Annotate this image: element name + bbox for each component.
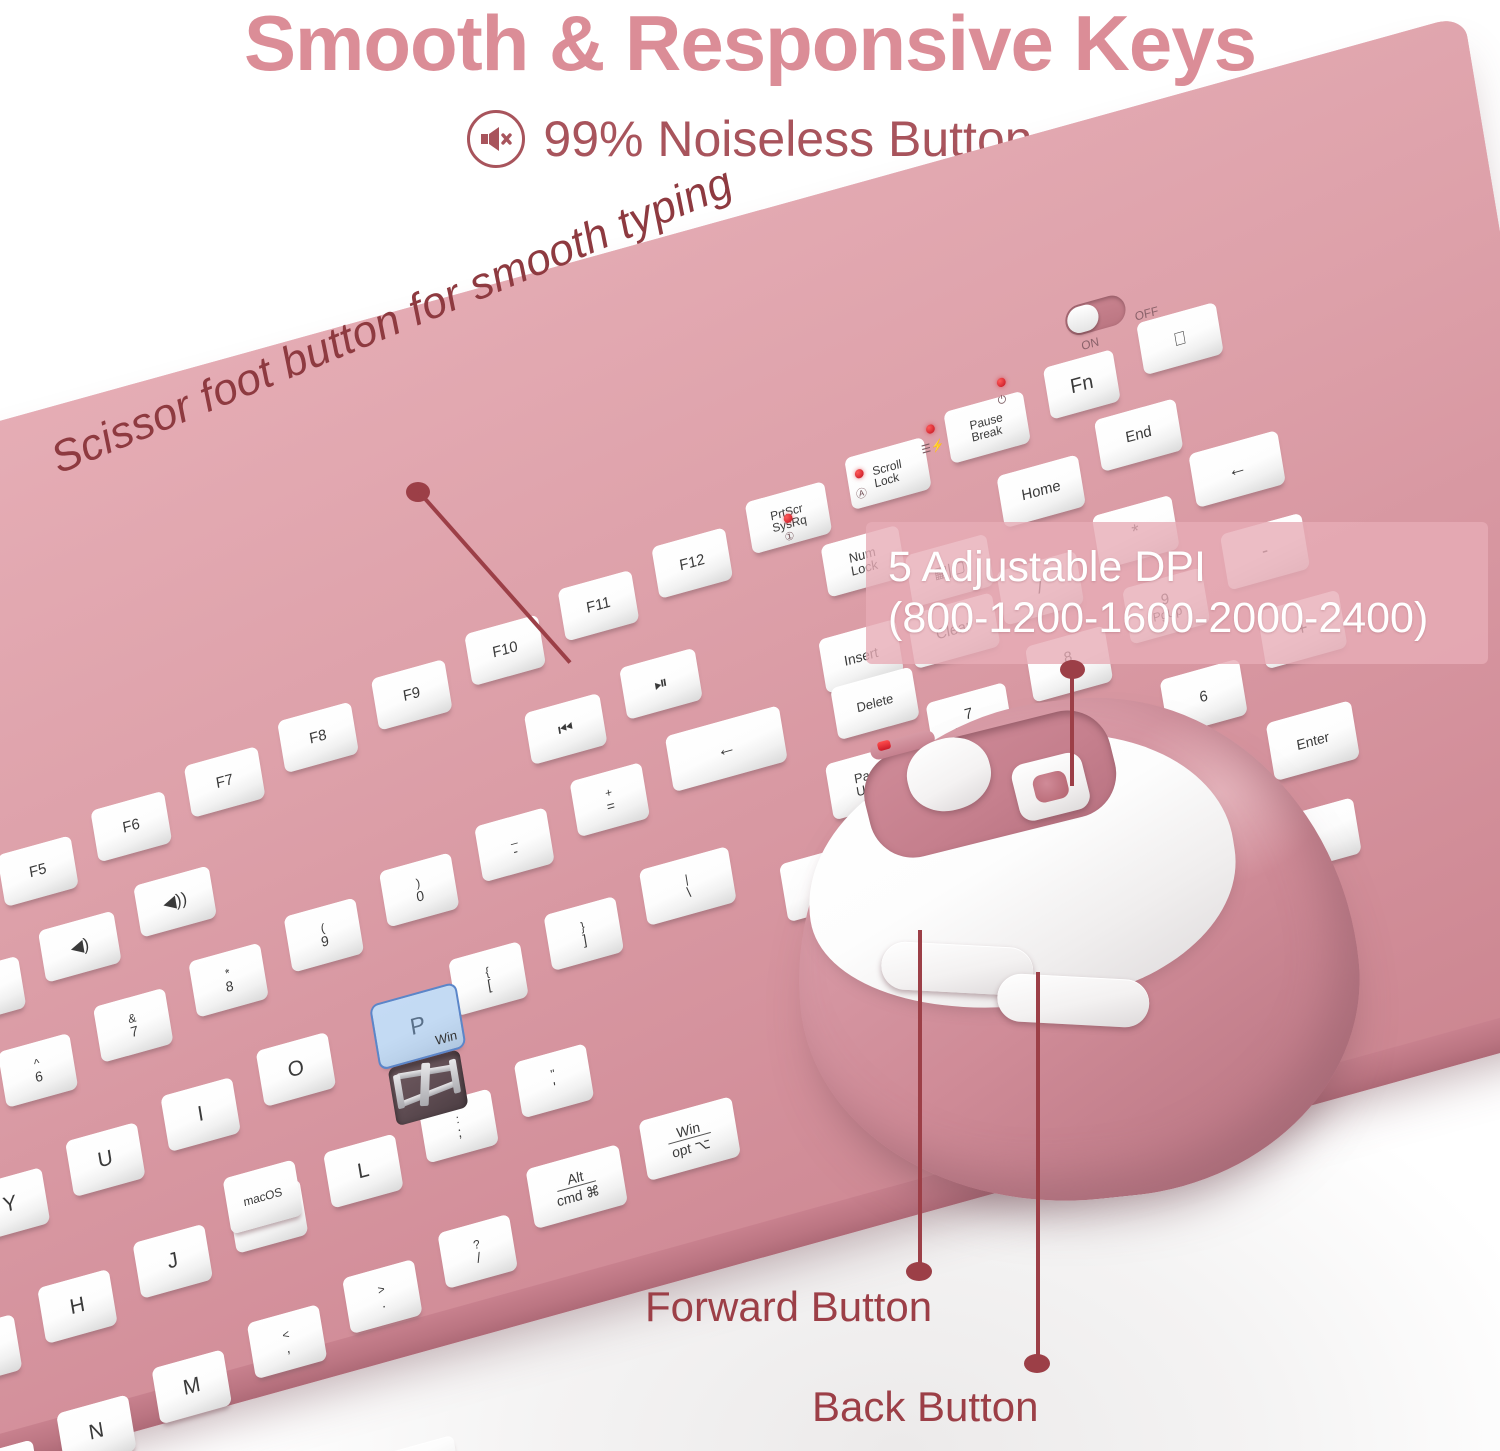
key-spacebar[interactable] bbox=[135, 1435, 463, 1451]
power-switch-on-label: ON bbox=[1080, 334, 1100, 353]
dpi-callout-line1: 5 Adjustable DPI bbox=[888, 542, 1488, 593]
key-f12[interactable]: F12 bbox=[651, 527, 733, 599]
key-fn[interactable]: Fn bbox=[1043, 349, 1121, 420]
key-f6[interactable]: F6 bbox=[90, 791, 172, 863]
key-quote[interactable]: "' bbox=[514, 1043, 595, 1118]
key-l[interactable]: L bbox=[323, 1133, 404, 1208]
key-win-opt[interactable]: Win opt ⌥ bbox=[638, 1096, 740, 1181]
key-bracket-left[interactable]: {[ bbox=[448, 941, 529, 1016]
key-mute[interactable]: ◀× bbox=[0, 956, 26, 1028]
key-y[interactable]: Y bbox=[0, 1167, 50, 1242]
num-lock-led-label: ① bbox=[784, 529, 796, 545]
scroll-lock-led-label: ☰⚡ bbox=[920, 438, 945, 457]
key-pause-break[interactable]: PauseBreak bbox=[943, 391, 1031, 464]
dpi-callout-line bbox=[1070, 668, 1074, 786]
key-f7[interactable]: F7 bbox=[184, 746, 266, 818]
scroll-lock-led bbox=[925, 423, 935, 434]
mouse-body bbox=[771, 672, 1380, 1228]
dpi-callout-box: 5 Adjustable DPI (800-1200-1600-2000-240… bbox=[866, 522, 1488, 664]
key-n[interactable]: N bbox=[56, 1394, 137, 1451]
key-6[interactable]: ^6 bbox=[0, 1033, 78, 1108]
key-f8[interactable]: F8 bbox=[277, 701, 359, 773]
forward-callout-dot bbox=[906, 1262, 932, 1281]
dpi-callout-line2: (800-1200-1600-2000-2400) bbox=[888, 593, 1488, 644]
wireless-mouse bbox=[756, 648, 1376, 1228]
key-g[interactable]: G bbox=[0, 1314, 22, 1389]
back-callout-dot bbox=[1024, 1354, 1050, 1373]
key-i[interactable]: I bbox=[160, 1077, 241, 1152]
key-j[interactable]: J bbox=[132, 1224, 213, 1299]
key-f9[interactable]: F9 bbox=[371, 659, 453, 731]
key-f5[interactable]: F5 bbox=[0, 835, 79, 907]
key-backslash[interactable]: |\ bbox=[639, 846, 737, 926]
key-9[interactable]: (9 bbox=[284, 897, 365, 972]
key-8[interactable]: *8 bbox=[188, 943, 269, 1018]
battery-led-label: ⏻ bbox=[997, 393, 1008, 408]
key-7[interactable]: &7 bbox=[93, 988, 174, 1063]
key-vol-up[interactable]: ◀)) bbox=[133, 865, 217, 937]
key-home-np[interactable]: Home bbox=[996, 454, 1086, 528]
key-u[interactable]: U bbox=[65, 1122, 146, 1197]
battery-led bbox=[996, 377, 1006, 388]
key-prev-track[interactable]: ⏮ bbox=[524, 693, 608, 765]
key-play-pause[interactable]: ⏯ bbox=[619, 648, 703, 720]
key-np-backspace[interactable]: ← bbox=[1188, 430, 1286, 508]
key-vol-down[interactable]: ◀) bbox=[38, 910, 122, 982]
key-period[interactable]: >. bbox=[342, 1259, 423, 1334]
product-infographic: Smooth & Responsive Keys 99% Noiseless B… bbox=[0, 0, 1500, 1451]
key-minus[interactable]: _- bbox=[474, 807, 555, 882]
forward-callout-line bbox=[918, 930, 922, 1270]
mouse-back-button[interactable] bbox=[996, 973, 1150, 1029]
back-callout-line bbox=[1036, 972, 1040, 1362]
mute-speaker-icon bbox=[467, 110, 525, 168]
key-m[interactable]: M bbox=[151, 1349, 232, 1424]
key-b[interactable]: B bbox=[0, 1439, 41, 1451]
key-bracket-right[interactable]: }] bbox=[543, 896, 624, 971]
back-button-label: Back Button bbox=[812, 1383, 1038, 1431]
key-comma[interactable]: <, bbox=[247, 1304, 328, 1379]
key-slash[interactable]: ?/ bbox=[437, 1214, 518, 1289]
key-end-np[interactable]: End bbox=[1094, 398, 1184, 472]
key-equal[interactable]: += bbox=[569, 762, 650, 837]
key-0[interactable]: )0 bbox=[379, 852, 460, 927]
forward-button-label: Forward Button bbox=[645, 1283, 932, 1331]
key-f11[interactable]: F11 bbox=[558, 570, 640, 642]
key-o[interactable]: O bbox=[256, 1032, 337, 1107]
key-h[interactable]: H bbox=[37, 1269, 118, 1344]
mouse-dpi-button-inner bbox=[1031, 769, 1071, 804]
key-alt-cmd[interactable]: Alt cmd ⌘ bbox=[526, 1144, 628, 1229]
